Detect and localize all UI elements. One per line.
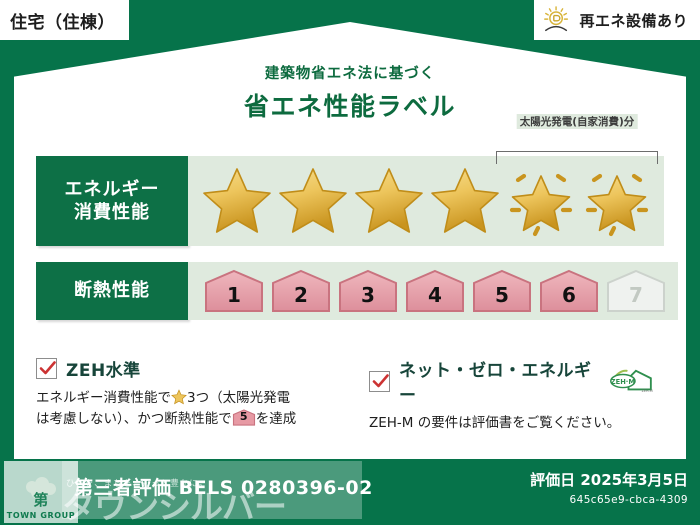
- insulation-level-6-number: 6: [562, 285, 576, 313]
- criterion-net-zero-energy: ネット・ゼロ・エネルギー ZEH·M ZEH-M ZEH-M の要件は評価書をご…: [351, 356, 666, 434]
- energy-performance-label: 住宅（住棟）: [0, 0, 700, 525]
- renewable-equipment-chip: 再エネ設備あり: [534, 0, 700, 40]
- insulation-level-5-number: 5: [495, 285, 509, 313]
- solar-sun-icon: [542, 6, 572, 34]
- insulation-level-group: 1 2 3 4: [202, 269, 668, 313]
- insulation-level-2: 2: [269, 269, 333, 313]
- insulation-level-5: 5: [470, 269, 534, 313]
- insulation-performance-label-box: 断熱性能: [36, 262, 188, 320]
- insulation-level-6: 6: [537, 269, 601, 313]
- evaluation-id: 645c65e9-cbca-4309: [530, 494, 688, 506]
- energy-star-1: [200, 164, 274, 238]
- evaluation-date: 評価日 2025年3月5日: [530, 469, 688, 490]
- energy-label-line2: 消費性能: [74, 201, 150, 224]
- title-main: 省エネ性能ラベル: [0, 87, 700, 123]
- zeh-desc-part2: は考慮しない）、かつ断熱性能で: [36, 411, 232, 427]
- energy-label-line1: エネルギー: [65, 178, 160, 201]
- energy-star-5-solar: [504, 164, 578, 238]
- net-zero-description: ZEH-M の要件は評価書をご覧ください。: [369, 413, 658, 434]
- zeh-desc-part3: を達成: [256, 411, 297, 427]
- criterion-zeh-standard: ZEH水準 エネルギー消費性能で 3つ（太陽光発電 は考慮しない）、かつ断熱性能…: [36, 356, 351, 434]
- insulation-level-7: 7: [604, 269, 668, 313]
- third-party-evaluation-text: 第三者評価 BELS 0280396-02: [74, 473, 373, 500]
- building-type-text: 住宅（住棟）: [10, 8, 115, 33]
- label-footer: 第三者評価 BELS 0280396-02 評価日 2025年3月5日 645c…: [0, 459, 700, 525]
- insulation-label-text: 断熱性能: [74, 279, 150, 302]
- zeh-standard-header: ZEH水準: [36, 356, 343, 381]
- evaluation-meta: 評価日 2025年3月5日 645c65e9-cbca-4309: [530, 469, 688, 506]
- insulation-level-3: 3: [336, 269, 400, 313]
- inline-house-level-number: 5: [232, 408, 256, 425]
- zeh-standard-title: ZEH水準: [66, 356, 141, 381]
- energy-star-6-solar: [580, 164, 654, 238]
- net-zero-title: ネット・ゼロ・エネルギー: [399, 356, 595, 406]
- label-title-block: 建築物省エネ法に基づく 省エネ性能ラベル: [0, 62, 700, 123]
- criteria-section: ZEH水準 エネルギー消費性能で 3つ（太陽光発電 は考慮しない）、かつ断熱性能…: [36, 356, 666, 434]
- energy-star-group: [200, 164, 654, 238]
- zeh-standard-checkbox[interactable]: [36, 358, 57, 379]
- insulation-level-1: 1: [202, 269, 266, 313]
- energy-star-2: [276, 164, 350, 238]
- energy-star-4: [428, 164, 502, 238]
- renewable-equipment-text: 再エネ設備あり: [579, 10, 688, 31]
- insulation-level-3-number: 3: [361, 285, 375, 313]
- svg-text:ZEH-M: ZEH-M: [641, 389, 652, 392]
- net-zero-header: ネット・ゼロ・エネルギー ZEH·M ZEH-M: [369, 356, 658, 406]
- insulation-level-7-number: 7: [629, 285, 643, 313]
- zeh-standard-description: エネルギー消費性能で 3つ（太陽光発電 は考慮しない）、かつ断熱性能で 5 を達…: [36, 388, 343, 430]
- insulation-level-4-number: 4: [428, 285, 442, 313]
- label-header: 住宅（住棟）: [0, 0, 700, 46]
- insulation-performance-row: 断熱性能 1 2: [36, 262, 664, 320]
- metric-rows: エネルギー 消費性能 太陽光発電(自家消費)分: [36, 156, 664, 320]
- svg-text:ZEH·M: ZEH·M: [610, 378, 635, 386]
- insulation-rating-area: 1 2 3 4: [188, 262, 678, 320]
- insulation-level-2-number: 2: [294, 285, 308, 313]
- zeh-desc-part1: エネルギー消費性能で: [36, 390, 171, 406]
- energy-rating-area: 太陽光発電(自家消費)分: [188, 156, 664, 246]
- zeh-m-logo-icon: ZEH·M ZEH-M: [608, 368, 658, 394]
- inline-house-level-icon: 5: [232, 409, 256, 426]
- net-zero-checkbox[interactable]: [369, 371, 390, 392]
- insulation-level-4: 4: [403, 269, 467, 313]
- insulation-level-1-number: 1: [227, 285, 241, 313]
- energy-star-3: [352, 164, 426, 238]
- title-subtitle: 建築物省エネ法に基づく: [0, 62, 700, 83]
- building-type-chip: 住宅（住棟）: [0, 0, 129, 40]
- inline-star-icon: [171, 389, 187, 405]
- energy-performance-row: エネルギー 消費性能 太陽光発電(自家消費)分: [36, 156, 664, 246]
- zeh-desc-star-count: 3つ（太陽光発電: [187, 390, 290, 406]
- energy-performance-label-box: エネルギー 消費性能: [36, 156, 188, 246]
